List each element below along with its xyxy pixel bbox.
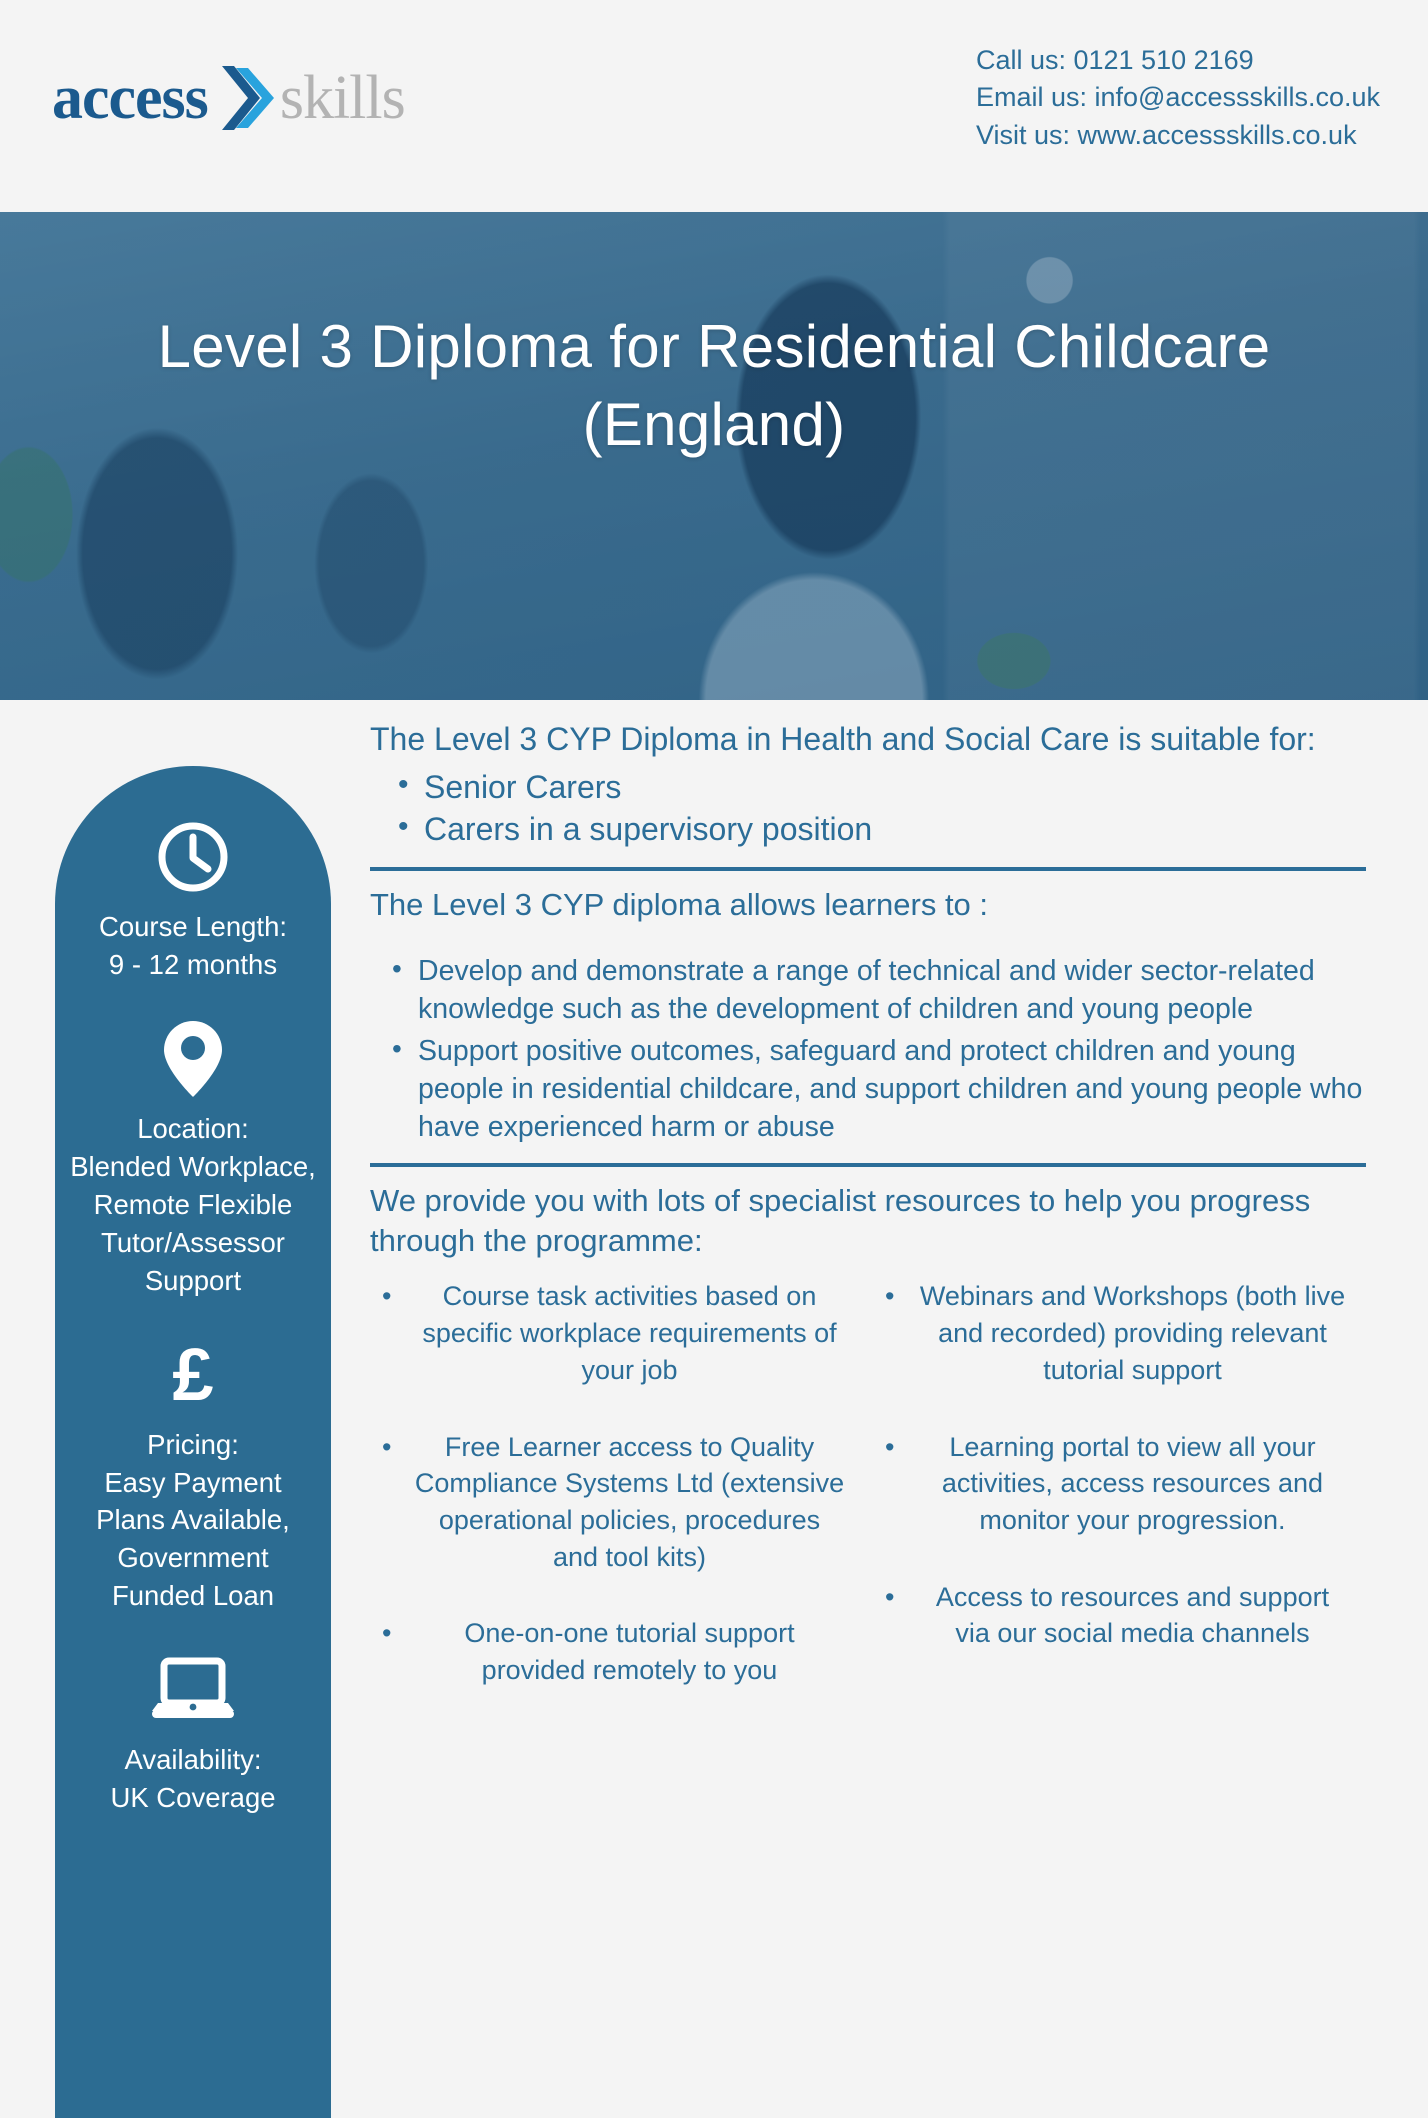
contact-email[interactable]: Email us: info@accessskills.co.uk — [976, 79, 1380, 116]
sidebar-block-pricing: £ Pricing: Easy Payment Plans Available,… — [69, 1336, 317, 1616]
brand-logo[interactable]: access skills — [52, 58, 405, 138]
list-item: Develop and demonstrate a range of techn… — [370, 952, 1366, 1028]
main-column: The Level 3 CYP Diploma in Health and So… — [370, 718, 1366, 1729]
sidebar-label-course-length: Course Length: — [69, 908, 317, 946]
logo-skills-text: skills — [280, 67, 405, 129]
sidebar-value-availability: UK Coverage — [69, 1779, 317, 1817]
contact-phone[interactable]: Call us: 0121 510 2169 — [976, 42, 1380, 79]
contact-website[interactable]: Visit us: www.accessskills.co.uk — [976, 117, 1380, 154]
section-divider — [370, 1163, 1366, 1167]
resources-heading: We provide you with lots of specialist r… — [370, 1181, 1366, 1263]
sidebar-value-location: Blended Workplace, Remote Flexible Tutor… — [69, 1148, 317, 1300]
sidebar-label-location: Location: — [69, 1110, 317, 1148]
pound-sterling-icon: £ — [69, 1336, 317, 1414]
suitability-lead: The Level 3 CYP Diploma in Health and So… — [370, 718, 1366, 760]
laptop-icon — [69, 1651, 317, 1729]
sidebar-value-pricing: Easy Payment Plans Available, Government… — [69, 1464, 317, 1616]
resources-columns: Course task activities based on specific… — [370, 1278, 1366, 1728]
list-item: Course task activities based on specific… — [370, 1278, 863, 1388]
course-facts-sidebar: Course Length: 9 - 12 months Location: B… — [55, 766, 331, 2118]
outcomes-list: Develop and demonstrate a range of techn… — [370, 952, 1366, 1147]
section-divider — [370, 867, 1366, 871]
page-header: access skills Call us: 0121 510 2169 Ema… — [0, 0, 1428, 212]
suitability-list: Senior Carers Carers in a supervisory po… — [370, 766, 1366, 850]
contact-block: Call us: 0121 510 2169 Email us: info@ac… — [976, 42, 1380, 154]
list-item: Learning portal to view all your activit… — [873, 1429, 1366, 1539]
sidebar-value-course-length: 9 - 12 months — [69, 946, 317, 984]
list-item: Senior Carers — [370, 766, 1366, 808]
list-item: Webinars and Workshops (both live and re… — [873, 1278, 1366, 1388]
list-item: Access to resources and support via our … — [873, 1579, 1366, 1652]
sidebar-label-availability: Availability: — [69, 1741, 317, 1779]
sidebar-block-location: Location: Blended Workplace, Remote Flex… — [69, 1020, 317, 1300]
hero-banner: Level 3 Diploma for Residential Childcar… — [0, 212, 1428, 700]
resources-column-left: Course task activities based on specific… — [370, 1278, 863, 1728]
sidebar-label-pricing: Pricing: — [69, 1426, 317, 1464]
logo-access-text: access — [52, 67, 208, 129]
chevron-right-logo-icon — [218, 62, 276, 134]
list-item: Free Learner access to Quality Complianc… — [370, 1429, 863, 1576]
page-title: Level 3 Diploma for Residential Childcar… — [0, 308, 1428, 464]
list-item: One-on-one tutorial support provided rem… — [370, 1615, 863, 1688]
list-item: Support positive outcomes, safeguard and… — [370, 1032, 1366, 1147]
sidebar-block-availability: Availability: UK Coverage — [69, 1651, 317, 1817]
list-item: Carers in a supervisory position — [370, 808, 1366, 850]
sidebar-block-course-length: Course Length: 9 - 12 months — [69, 818, 317, 984]
content-area: Course Length: 9 - 12 months Location: B… — [0, 700, 1428, 2028]
resources-column-right: Webinars and Workshops (both live and re… — [873, 1278, 1366, 1728]
clock-icon — [69, 818, 317, 896]
location-pin-icon — [69, 1020, 317, 1098]
outcomes-heading: The Level 3 CYP diploma allows learners … — [370, 885, 1366, 926]
